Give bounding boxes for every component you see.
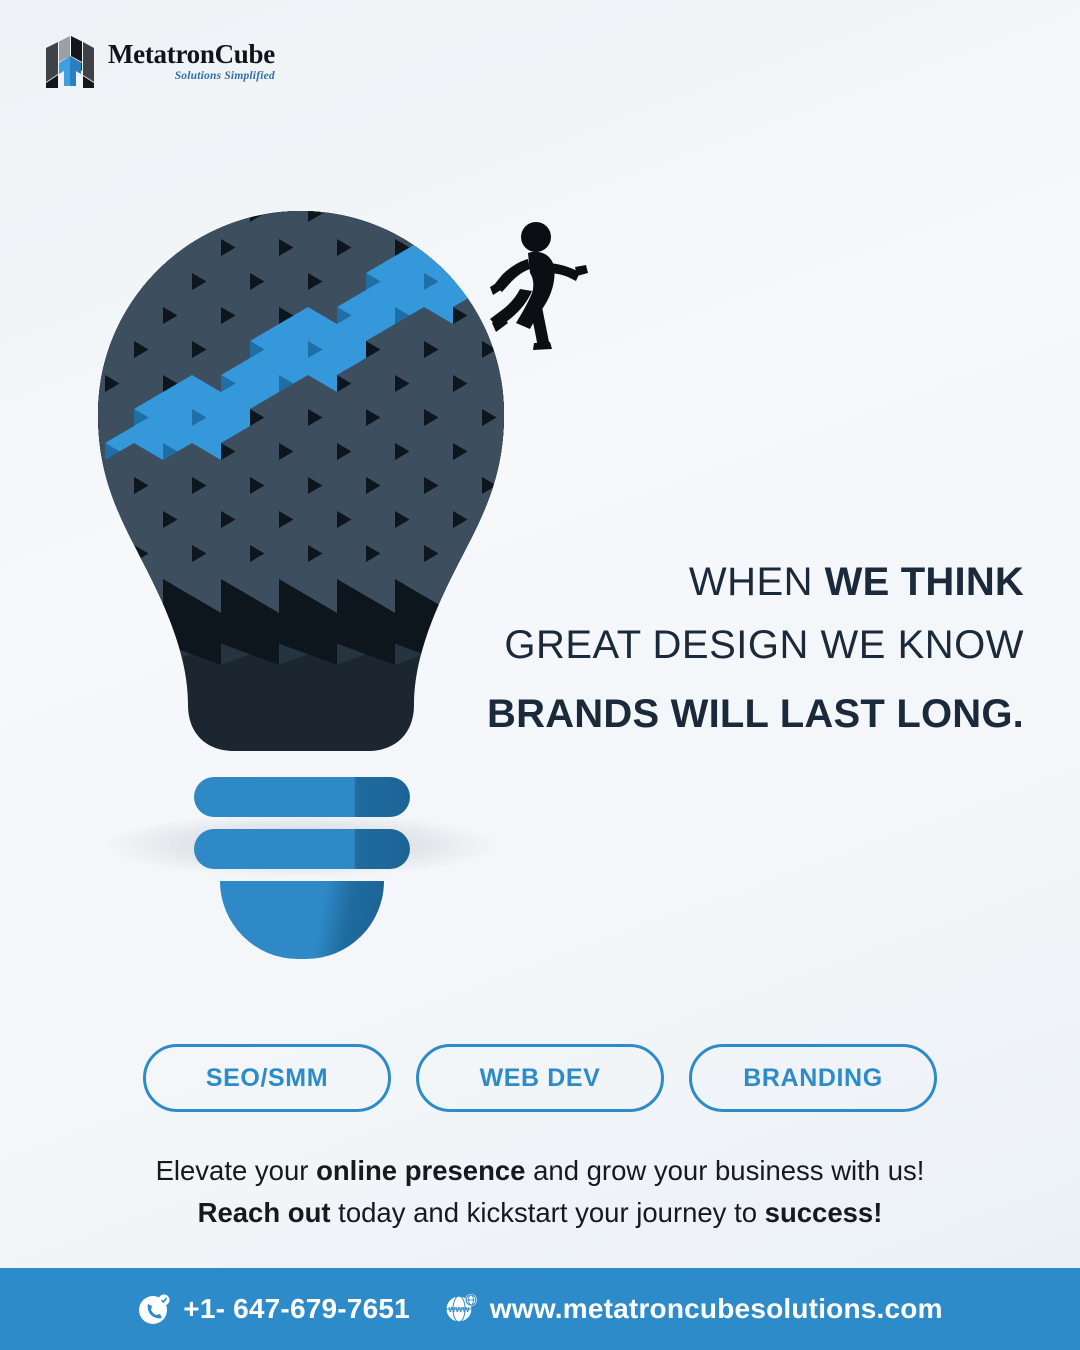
bulb-base-bar-top	[194, 777, 410, 817]
headline-line-1-light: WHEN	[689, 560, 825, 604]
contact-website[interactable]: www www.metatroncubesolutions.com	[444, 1292, 943, 1326]
tagline-line-2: Reach out today and kickstart your journ…	[0, 1192, 1080, 1234]
tagline-line-1: Elevate your online presence and grow yo…	[0, 1150, 1080, 1192]
tagline-2a: Reach out	[198, 1197, 331, 1228]
bulb-cube-pattern	[76, 205, 526, 795]
tagline-1b: online presence	[316, 1155, 525, 1186]
service-pill-group: SEO/SMM WEB DEV BRANDING	[0, 1044, 1080, 1112]
brand-tagline: Solutions Simplified	[108, 71, 275, 83]
headline-line-1-bold: WE THINK	[825, 560, 1024, 604]
lightbulb-illustration	[76, 205, 526, 945]
brand-wordmark: MetatronCube Solutions Simplified	[108, 41, 275, 83]
brand-header: MetatronCube Solutions Simplified	[44, 34, 275, 90]
tagline-2c: success!	[765, 1197, 883, 1228]
bulb-base	[194, 777, 410, 917]
service-pill-branding[interactable]: BRANDING	[689, 1044, 937, 1112]
phone-circle-icon	[137, 1292, 171, 1326]
running-person-icon	[476, 215, 596, 350]
service-pill-label: BRANDING	[743, 1064, 883, 1093]
www-globe-icon: www	[444, 1292, 478, 1326]
service-pill-web-dev[interactable]: WEB DEV	[416, 1044, 664, 1112]
tagline-1c: and grow your business with us!	[525, 1155, 924, 1186]
contact-phone[interactable]: +1- 647-679-7651	[137, 1292, 410, 1326]
service-pill-seo-smm[interactable]: SEO/SMM	[143, 1044, 391, 1112]
tagline-1a: Elevate your	[156, 1155, 317, 1186]
contact-footer-bar: +1- 647-679-7651 www www.metatroncubesol…	[0, 1268, 1080, 1350]
tagline-2b: today and kickstart your journey to	[331, 1197, 765, 1228]
poster-canvas: MetatronCube Solutions Simplified	[0, 0, 1080, 1350]
service-pill-label: SEO/SMM	[206, 1064, 328, 1093]
website-url: www.metatroncubesolutions.com	[490, 1293, 943, 1325]
brand-name: MetatronCube	[108, 41, 275, 68]
tagline: Elevate your online presence and grow yo…	[0, 1150, 1080, 1234]
headline-line-3: BRANDS WILL LAST LONG.	[464, 680, 1024, 749]
service-pill-label: WEB DEV	[480, 1064, 601, 1093]
bulb-base-bar-bottom	[194, 829, 410, 869]
headline: WHEN WE THINK GREAT DESIGN WE KNOW BRAND…	[464, 553, 1024, 749]
headline-line-2: GREAT DESIGN WE KNOW	[464, 611, 1024, 680]
phone-number: +1- 647-679-7651	[183, 1293, 410, 1325]
isometric-cube-arrow-icon	[44, 34, 96, 90]
bulb-base-cap	[220, 881, 384, 959]
svg-text:www: www	[447, 1304, 470, 1314]
headline-line-1: WHEN WE THINK	[464, 553, 1024, 611]
